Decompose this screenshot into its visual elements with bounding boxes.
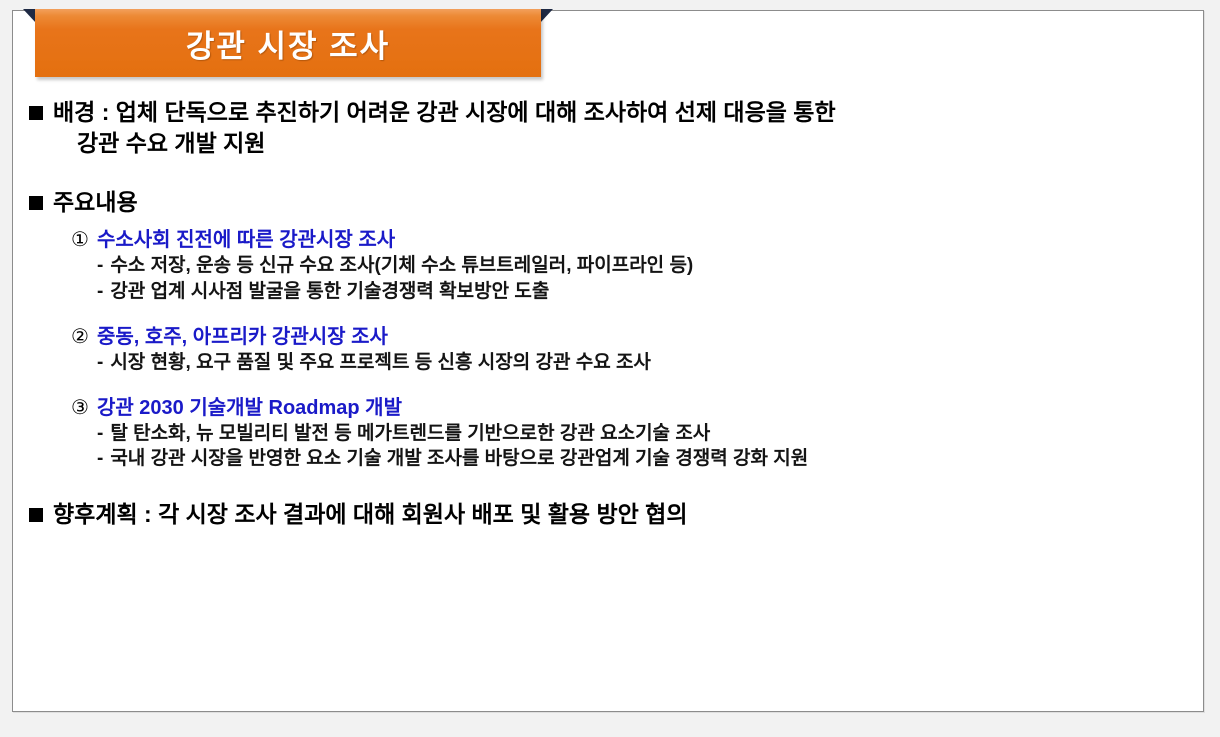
title-banner-body: 강관 시장 조사 [35,9,541,77]
main-item-2-bullet-1: - 시장 현황, 요구 품질 및 주요 프로젝트 등 신흥 시장의 강관 수요 … [97,350,1203,375]
page-title: 강관 시장 조사 [186,21,390,66]
slide-content: 배경 : 업체 단독으로 추진하기 어려운 강관 시장에 대해 조사하여 선제 … [13,97,1203,530]
circled-number-3-icon: ③ [71,395,89,421]
background-line-1: 배경 : 업체 단독으로 추진하기 어려운 강관 시장에 대해 조사하여 선제 … [53,97,836,128]
main-item-3-bullet-1-text: 탈 탄소화, 뉴 모빌리티 발전 등 메가트렌드를 기반으로한 강관 요소기술 … [110,421,710,446]
main-contents-heading-label: 주요내용 [53,187,138,218]
section-future-plan: 향후계획 : 각 시장 조사 결과에 대해 회원사 배포 및 활용 방안 협의 [29,499,1203,530]
dash-bullet-icon: - [97,446,103,471]
circled-number-2-icon: ② [71,324,89,350]
main-item-3: ③ 강관 2030 기술개발 Roadmap 개발 [71,395,1203,421]
dash-bullet-icon: - [97,279,103,304]
slide-canvas: 강관 시장 조사 배경 : 업체 단독으로 추진하기 어려운 강관 시장에 대해… [12,10,1204,712]
main-item-3-bullet-2: - 국내 강관 시장을 반영한 요소 기술 개발 조사를 바탕으로 강관업계 기… [97,446,1203,471]
section-background: 배경 : 업체 단독으로 추진하기 어려운 강관 시장에 대해 조사하여 선제 … [29,97,1203,128]
future-plan-text: 향후계획 : 각 시장 조사 결과에 대해 회원사 배포 및 활용 방안 협의 [53,499,688,530]
main-item-3-bullet-2-text: 국내 강관 시장을 반영한 요소 기술 개발 조사를 바탕으로 강관업계 기술 … [110,446,808,471]
main-item-1-bullet-2-text: 강관 업계 시사점 발굴을 통한 기술경쟁력 확보방안 도출 [110,279,549,304]
dash-bullet-icon: - [97,350,103,375]
title-banner: 강관 시장 조사 [23,9,553,79]
main-item-2-title: 중동, 호주, 아프리카 강관시장 조사 [97,324,388,350]
background-line-2: 강관 수요 개발 지원 [77,128,1203,159]
square-bullet-icon [29,106,43,120]
square-bullet-icon [29,508,43,522]
section-main-contents-heading: 주요내용 [29,187,1203,218]
dash-bullet-icon: - [97,421,103,446]
main-item-3-bullet-1: - 탈 탄소화, 뉴 모빌리티 발전 등 메가트렌드를 기반으로한 강관 요소기… [97,421,1203,446]
main-item-1-title: 수소사회 진전에 따른 강관시장 조사 [97,227,395,253]
main-item-1: ① 수소사회 진전에 따른 강관시장 조사 [71,227,1203,253]
main-item-2-bullet-1-text: 시장 현황, 요구 품질 및 주요 프로젝트 등 신흥 시장의 강관 수요 조사 [110,350,651,375]
ribbon-fold-right-icon [540,9,553,23]
square-bullet-icon [29,196,43,210]
main-item-1-bullet-2: - 강관 업계 시사점 발굴을 통한 기술경쟁력 확보방안 도출 [97,279,1203,304]
main-item-2: ② 중동, 호주, 아프리카 강관시장 조사 [71,324,1203,350]
main-item-1-bullet-1: - 수소 저장, 운송 등 신규 수요 조사(기체 수소 튜브트레일러, 파이프… [97,253,1203,278]
dash-bullet-icon: - [97,253,103,278]
main-item-3-title: 강관 2030 기술개발 Roadmap 개발 [97,395,402,421]
circled-number-1-icon: ① [71,227,89,253]
main-item-1-bullet-1-text: 수소 저장, 운송 등 신규 수요 조사(기체 수소 튜브트레일러, 파이프라인… [110,253,693,278]
